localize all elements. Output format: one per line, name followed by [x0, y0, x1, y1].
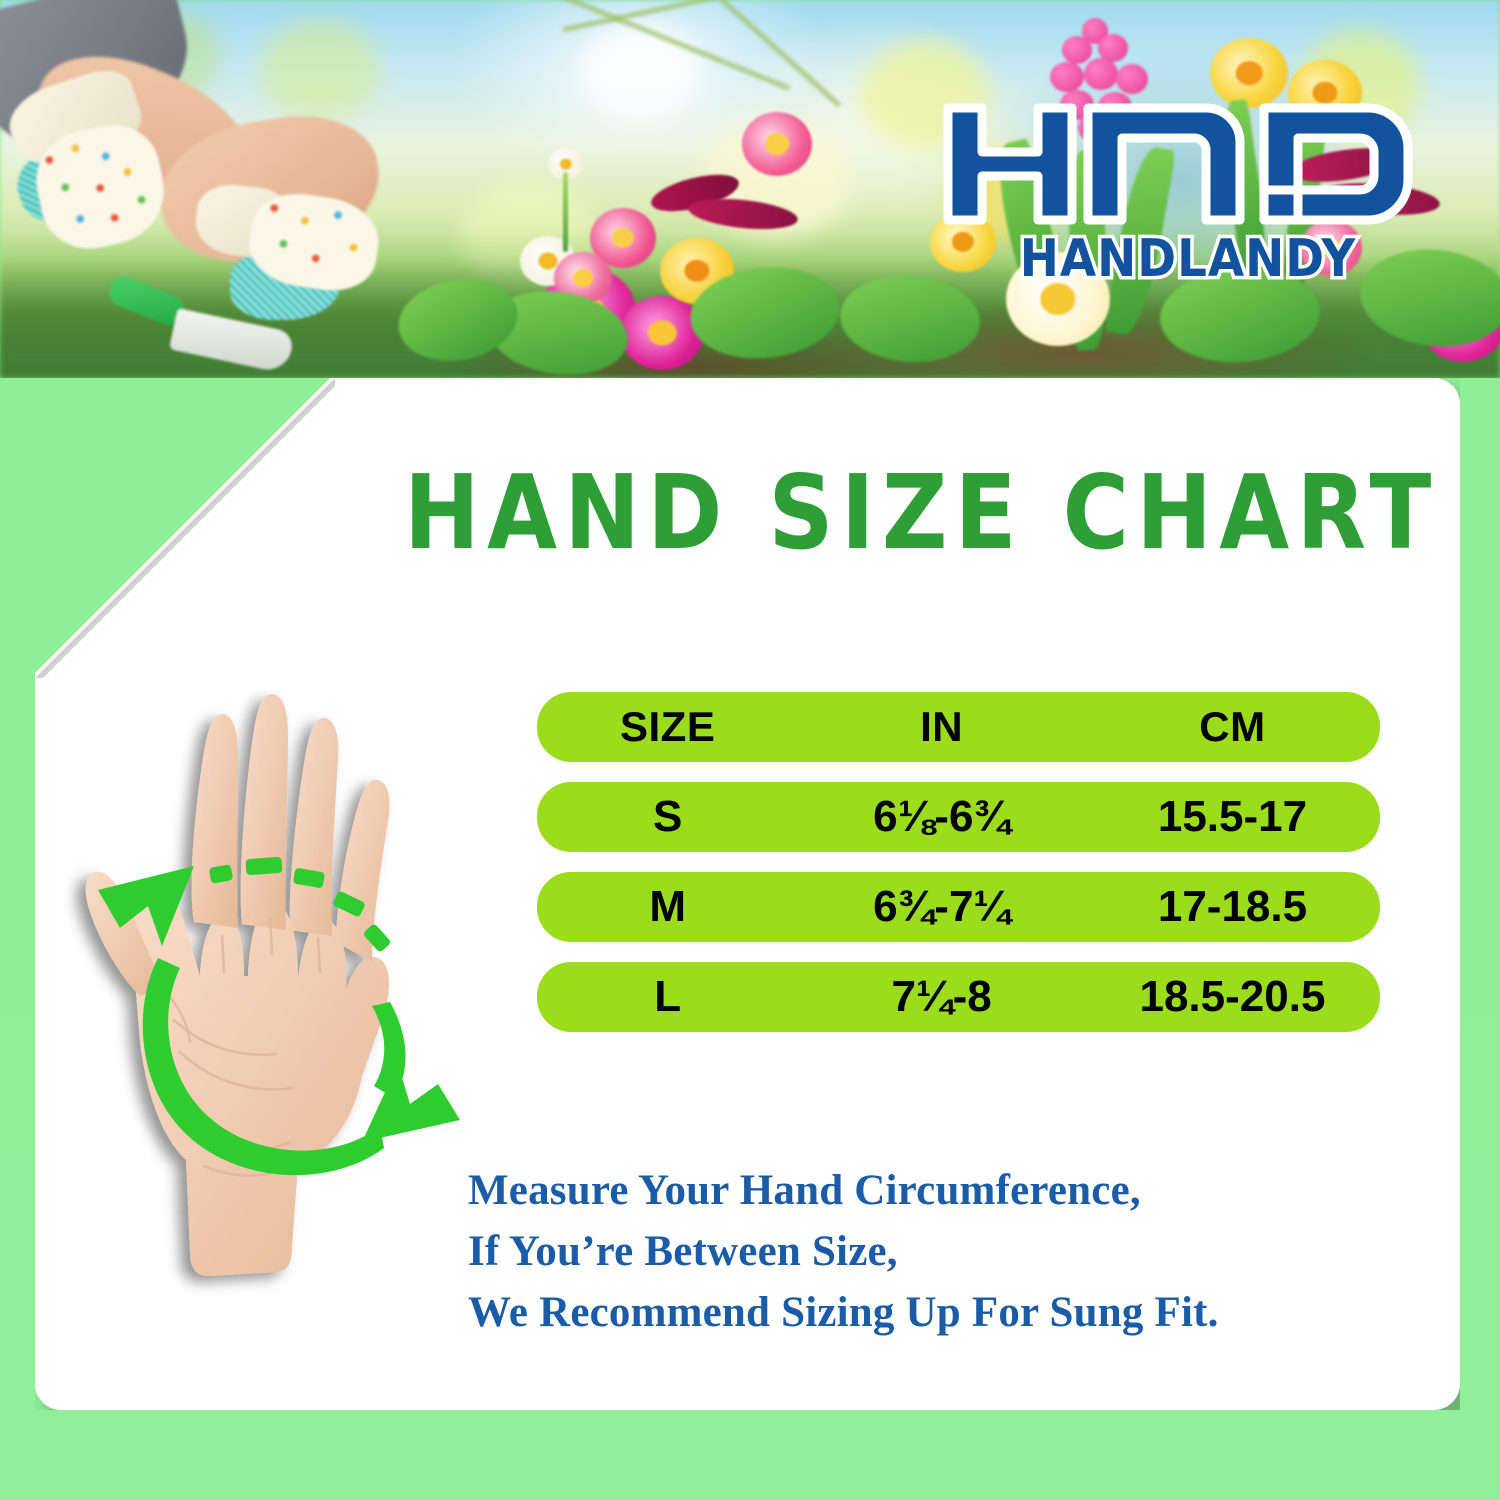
table-header-row: SIZE IN CM — [537, 692, 1380, 762]
column-header-size: SIZE — [537, 706, 798, 748]
column-header-cm: CM — [1085, 706, 1380, 748]
cell-centimeters: 15.5-17 — [1085, 795, 1380, 839]
instruction-line-2: If You’re Between Size, — [468, 1221, 1219, 1282]
cell-centimeters: 17-18.5 — [1085, 885, 1380, 929]
logo-wordmark: HANDLANDY — [1020, 229, 1357, 289]
size-table: SIZE IN CM S 6⅛-6¾ 15.5-17 M 6¾-7¼ 17-18… — [537, 692, 1380, 1032]
cell-centimeters: 18.5-20.5 — [1085, 975, 1380, 1019]
photo-stem — [563, 172, 568, 252]
instruction-line-1: Measure Your Hand Circumference, — [468, 1160, 1219, 1221]
table-row: L 7¼-8 18.5-20.5 — [537, 962, 1380, 1032]
open-palm-graphic — [86, 694, 390, 1276]
measurement-instructions: Measure Your Hand Circumference, If You’… — [468, 1160, 1219, 1343]
instruction-line-3: We Recommend Sizing Up For Sung Fit. — [468, 1282, 1219, 1343]
photo-daisy-pink — [742, 112, 812, 176]
handlandy-logo: HANDLANDY — [938, 90, 1438, 290]
cell-inches: 7¼-8 — [798, 975, 1085, 1019]
cell-size: M — [537, 885, 798, 929]
cell-inches: 6⅛-6¾ — [798, 795, 1085, 839]
cell-size: L — [537, 975, 798, 1019]
photo-bokeh-blob — [260, 20, 380, 120]
column-header-in: IN — [798, 706, 1085, 748]
table-row: M 6¾-7¼ 17-18.5 — [537, 872, 1380, 942]
page-title: HAND SIZE CHART — [370, 462, 1472, 565]
logo-monogram-icon — [948, 108, 1408, 220]
hand-measurement-illustration — [62, 690, 482, 1320]
photo-bokeh-blob — [580, 24, 700, 124]
cell-inches: 6¾-7¼ — [798, 885, 1085, 929]
cell-size: S — [537, 795, 798, 839]
size-chart-infographic: HANDLANDY HAND SIZE CHART — [0, 0, 1500, 1500]
table-row: S 6⅛-6¾ 15.5-17 — [537, 782, 1380, 852]
